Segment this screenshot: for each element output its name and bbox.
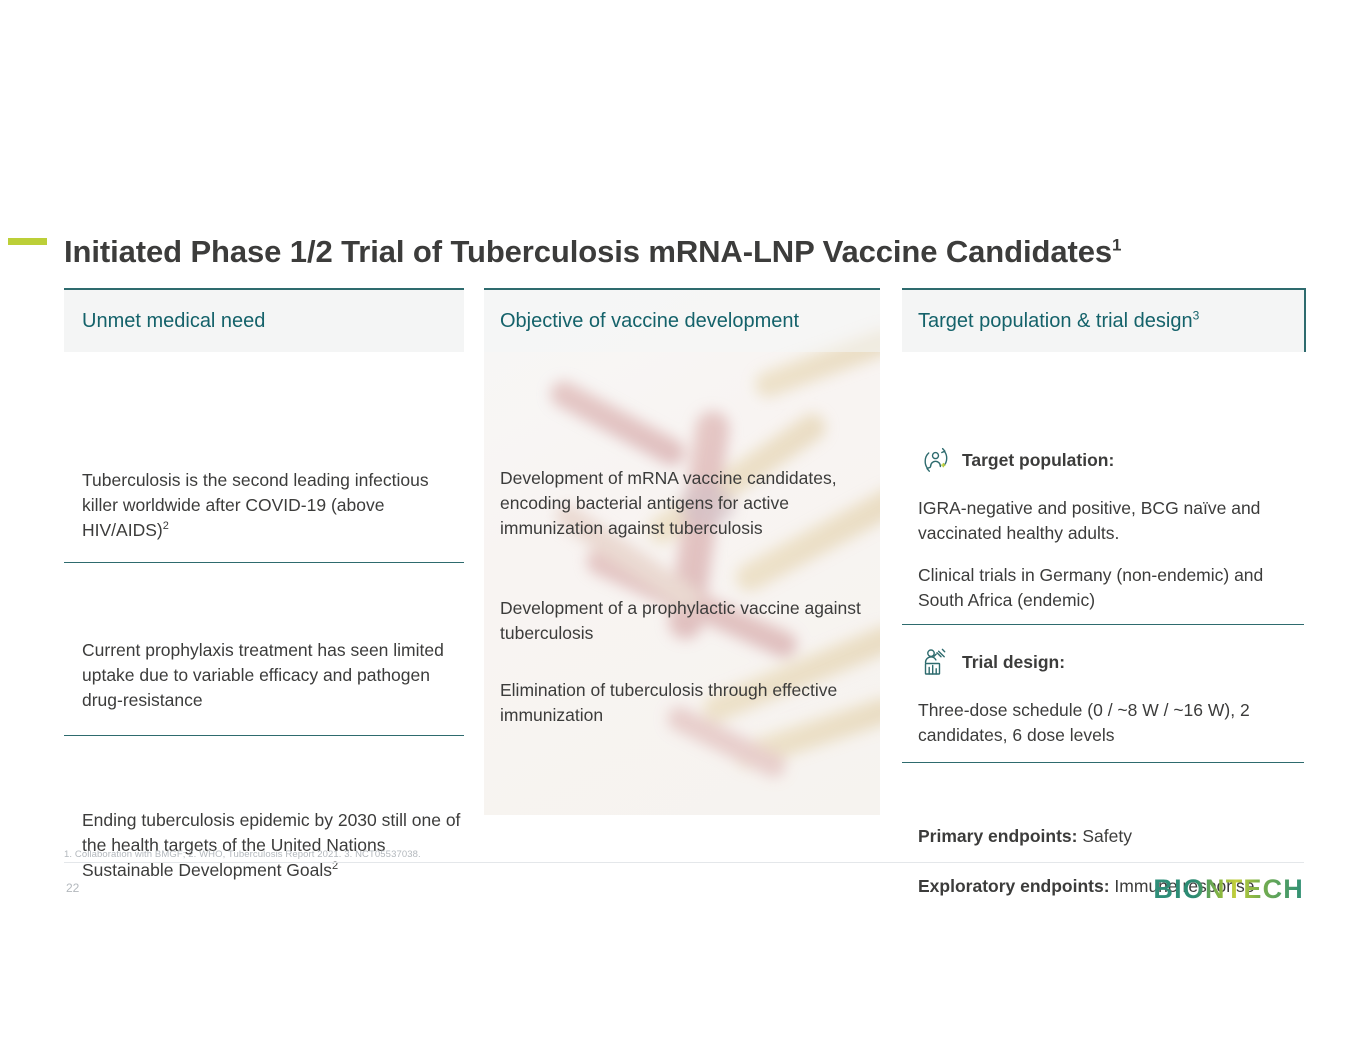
column-header-text: Objective of vaccine development: [500, 310, 799, 332]
trial-design-label: Trial design:: [962, 652, 1065, 673]
column-objective-of-vaccine-development: Objective of vaccine development Develop…: [484, 288, 880, 815]
column-header-text: Target population & trial design: [918, 310, 1193, 332]
column-target-population-trial-design: Target population & trial design3: [902, 288, 1306, 352]
column-header-text: Unmet medical need: [82, 310, 265, 332]
page-title-text: Initiated Phase 1/2 Trial of Tuberculosi…: [64, 234, 1112, 269]
person-syringe-icon: [918, 644, 954, 680]
column-unmet-medical-need: Unmet medical need Tuberculosis is the s…: [64, 288, 464, 352]
target-population-section: Target population: IGRA-negative and pos…: [918, 442, 1298, 619]
objective-item-2: Development of a prophylactic vaccine ag…: [500, 596, 865, 646]
biontech-logo: BIONTECH: [1153, 874, 1304, 905]
trial-design-divider: [902, 762, 1304, 763]
column-header-objective: Objective of vaccine development: [484, 290, 880, 352]
unmet-need-divider-2: [64, 735, 464, 736]
column-header-label: Unmet medical need: [82, 310, 265, 333]
exploratory-endpoints-label: Exploratory endpoints:: [918, 876, 1110, 896]
title-accent-bar: [8, 238, 47, 245]
unmet-need-item-1-text: Tuberculosis is the second leading infec…: [82, 470, 429, 540]
unmet-need-item-2: Current prophylaxis treatment has seen l…: [82, 638, 462, 713]
trial-design-section: Trial design: Three-dose schedule (0 / ~…: [918, 644, 1298, 754]
unmet-need-item-2-text: Current prophylaxis treatment has seen l…: [82, 640, 444, 710]
target-population-line-1: IGRA-negative and positive, BCG naïve an…: [918, 496, 1298, 546]
footer-divider: [64, 862, 1304, 863]
three-column-layout: Unmet medical need Tuberculosis is the s…: [64, 288, 1304, 813]
primary-endpoints: Primary endpoints: Safety: [918, 820, 1308, 853]
column-header-label: Target population & trial design3: [918, 310, 1199, 333]
column-header-label: Objective of vaccine development: [500, 310, 799, 333]
unmet-need-item-3-text: Ending tuberculosis epidemic by 2030 sti…: [82, 810, 460, 880]
column-header-unmet-medical-need: Unmet medical need: [64, 290, 464, 352]
tuberculosis-bacilli-background-image: [484, 290, 880, 815]
footnote: 1. Collaboration with BMGF; 2. WHO, Tube…: [64, 849, 421, 860]
trial-design-heading: Trial design:: [918, 644, 1298, 680]
page-title: Initiated Phase 1/2 Trial of Tuberculosi…: [64, 234, 1121, 270]
target-population-line-2: Clinical trials in Germany (non-endemic)…: [918, 563, 1298, 613]
page-title-superscript: 1: [1112, 235, 1121, 254]
target-population-heading: Target population:: [918, 442, 1298, 478]
primary-endpoints-label: Primary endpoints:: [918, 826, 1077, 846]
target-population-label: Target population:: [962, 450, 1114, 471]
unmet-need-item-1-superscript: 2: [163, 520, 169, 532]
objective-item-3: Elimination of tuberculosis through effe…: [500, 678, 865, 728]
objective-item-1: Development of mRNA vaccine candidates, …: [500, 466, 865, 541]
unmet-need-divider-1: [64, 562, 464, 563]
column-header-target-population: Target population & trial design3: [902, 290, 1304, 352]
page-number: 22: [66, 881, 79, 895]
unmet-need-item-1: Tuberculosis is the second leading infec…: [82, 468, 462, 543]
person-cycle-icon: [918, 442, 954, 478]
unmet-need-item-3: Ending tuberculosis epidemic by 2030 sti…: [82, 808, 462, 883]
target-population-divider: [902, 624, 1304, 625]
primary-endpoints-value: Safety: [1082, 826, 1132, 846]
trial-design-line-1: Three-dose schedule (0 / ~8 W / ~16 W), …: [918, 698, 1298, 748]
column-header-superscript: 3: [1193, 308, 1200, 322]
